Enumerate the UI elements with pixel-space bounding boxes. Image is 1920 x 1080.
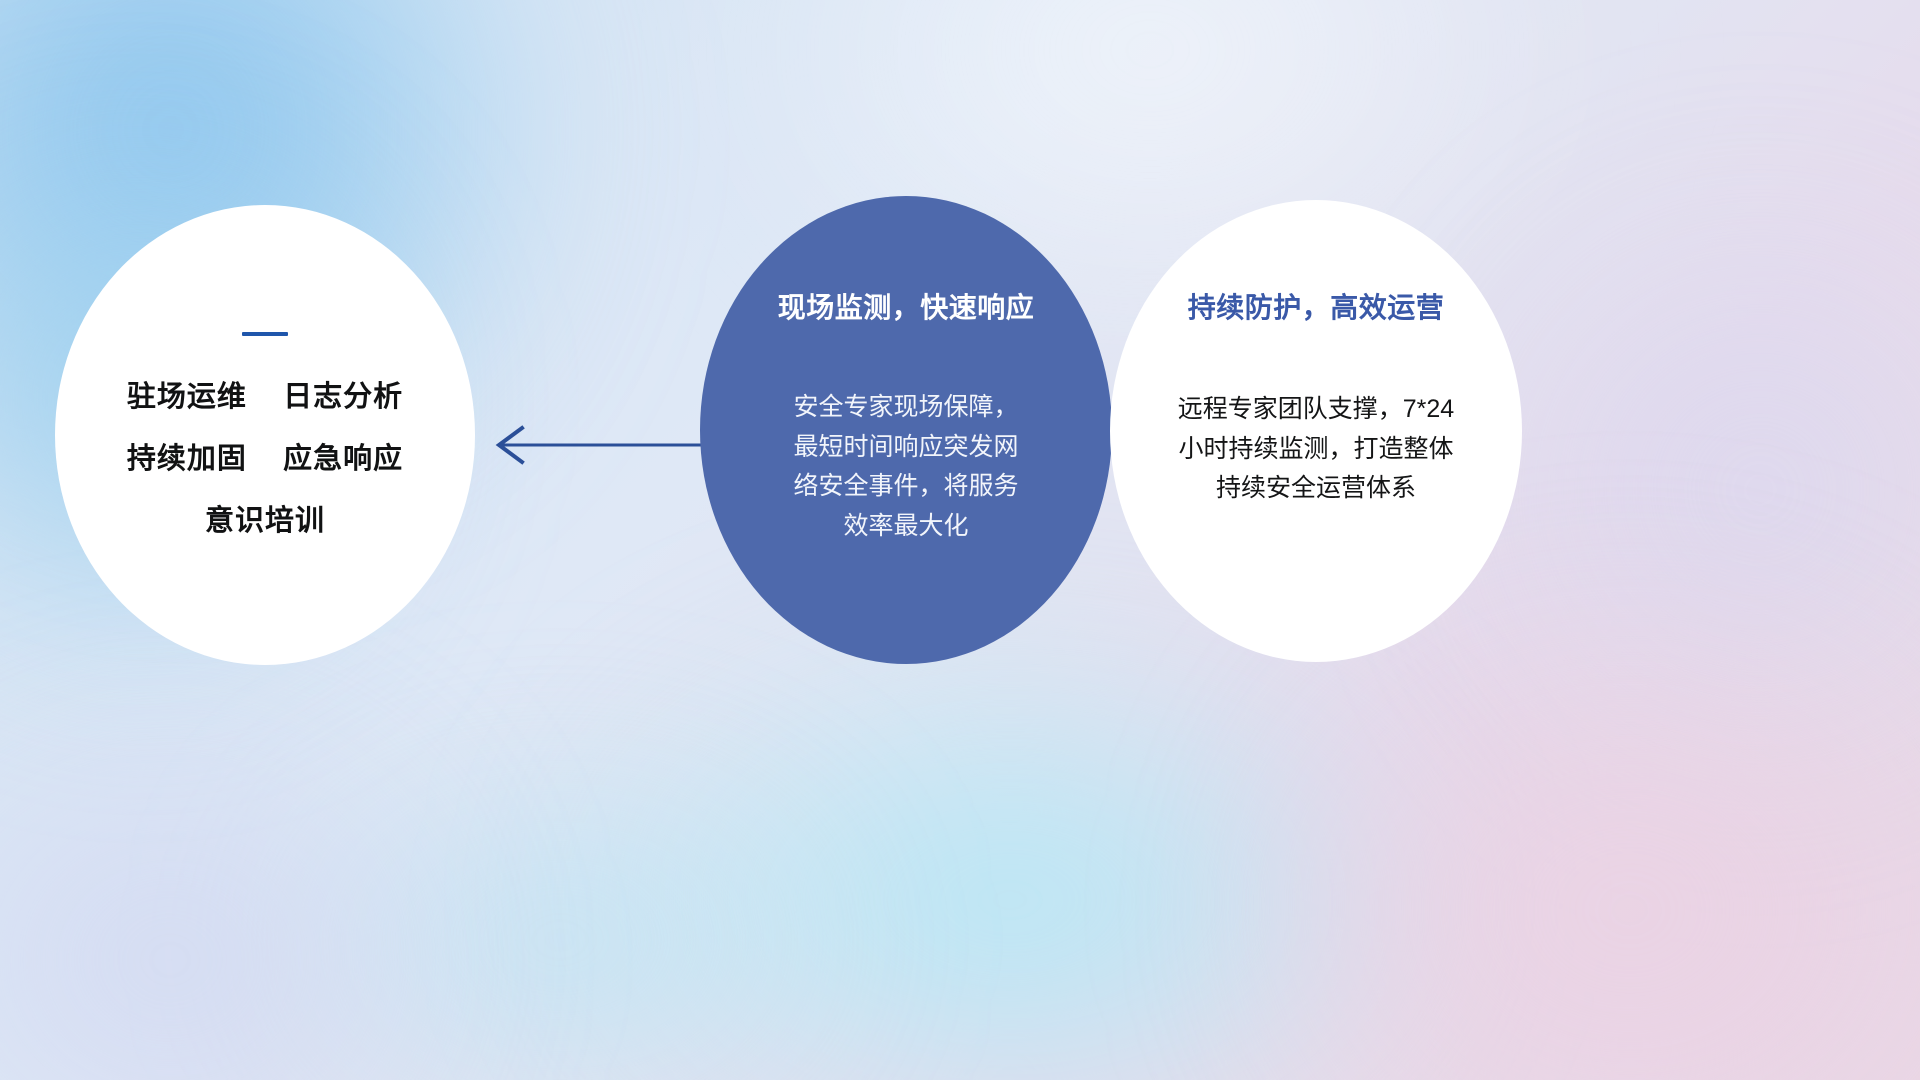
slide-canvas: 驻场运维 日志分析 持续加固 应急响应 意识培训 现场监测，快速响应 安全专家现… [0, 0, 1920, 1080]
onsite-body-line-3: 络安全事件，将服务 [756, 467, 1056, 507]
capability-line-1: 驻场运维 日志分析 [127, 382, 403, 414]
capability-line-3: 意识培训 [205, 506, 325, 538]
onsite-body: 安全专家现场保障， 最短时间响应突发网 络安全事件，将服务 效率最大化 [756, 388, 1056, 546]
remote-title: 持续防护，高效运营 [1188, 286, 1445, 326]
onsite-title: 现场监测，快速响应 [778, 286, 1035, 326]
capability-circle-left[interactable]: 驻场运维 日志分析 持续加固 应急响应 意识培训 [55, 205, 475, 665]
capability-line-2: 持续加固 应急响应 [127, 444, 403, 476]
feature-circle-onsite[interactable]: 现场监测，快速响应 安全专家现场保障， 最短时间响应突发网 络安全事件，将服务 … [700, 196, 1112, 664]
remote-body-line-3: 持续安全运营体系 [1148, 469, 1484, 509]
onsite-body-line-1: 安全专家现场保障， [756, 388, 1056, 428]
onsite-body-line-4: 效率最大化 [756, 507, 1056, 547]
remote-body: 远程专家团队支撑，7*24 小时持续监测，打造整体 持续安全运营体系 [1148, 390, 1484, 509]
feature-circle-remote[interactable]: 持续防护，高效运营 远程专家团队支撑，7*24 小时持续监测，打造整体 持续安全… [1110, 200, 1522, 662]
remote-body-line-1: 远程专家团队支撑，7*24 [1148, 390, 1484, 430]
onsite-body-line-2: 最短时间响应突发网 [756, 428, 1056, 468]
divider-dash-icon [242, 332, 288, 336]
remote-body-line-2: 小时持续监测，打造整体 [1148, 430, 1484, 470]
